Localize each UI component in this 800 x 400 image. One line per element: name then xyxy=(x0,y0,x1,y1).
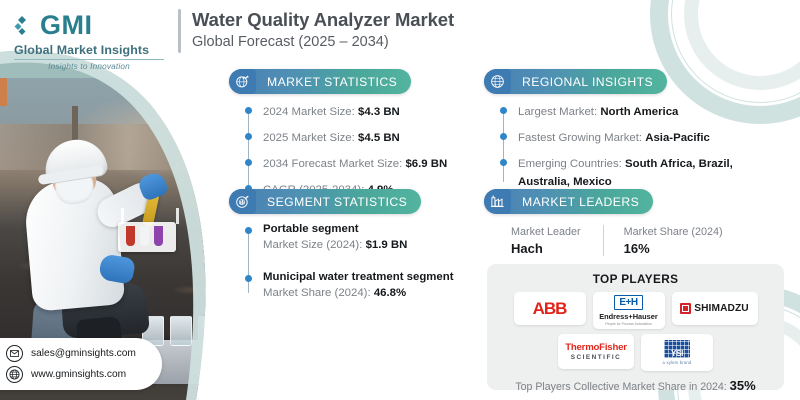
market-leader-column: Market Leader Hach xyxy=(511,225,603,256)
top-players-row-2: ThermoFisher SCIENTIFIC YSI a xylem bran… xyxy=(487,334,784,371)
market-leader-value: Hach xyxy=(511,241,581,256)
decorative-ring-top-right-mid xyxy=(668,0,800,106)
gmi-diamond-icon xyxy=(14,14,36,38)
endress-hauser-logo-text: Endress+Hauser xyxy=(599,312,658,321)
list-item: 2025 Market Size: $4.5 BN xyxy=(245,128,480,146)
player-logo-abb[interactable]: ABB xyxy=(514,292,586,325)
market-leader-caption: Market Leader xyxy=(511,225,581,239)
photo-test-tube xyxy=(154,226,163,246)
player-logo-endress-hauser[interactable]: E+H Endress+Hauser People for Process Au… xyxy=(593,292,665,329)
list-item: Portable segment Market Size (2024): $1.… xyxy=(245,222,485,254)
segment-heading: Municipal water treatment segment xyxy=(263,270,485,285)
gmi-logo-name: Global Market Insights xyxy=(14,43,166,57)
bullet-dot-icon xyxy=(500,133,507,140)
gmi-logo-initials: GMI xyxy=(40,12,93,39)
abb-logo-text: ABB xyxy=(533,299,567,319)
list-item: 2034 Forecast Market Size: $6.9 BN xyxy=(245,154,480,172)
globe-icon xyxy=(6,366,23,383)
list-market-statistics: 2024 Market Size: $4.3 BN 2025 Market Si… xyxy=(245,102,480,199)
bullet-dot-icon xyxy=(500,107,507,114)
list-item-text: 2024 Market Size: $4.3 BN xyxy=(263,106,400,118)
player-logo-shimadzu[interactable]: SHIMADZU xyxy=(672,292,758,325)
factory-icon xyxy=(484,189,511,214)
photo-post xyxy=(72,106,78,140)
list-item: Largest Market: North America xyxy=(500,102,770,120)
player-logo-ysi[interactable]: YSI a xylem brand xyxy=(641,334,713,371)
market-leaders-stats: Market Leader Hach Market Share (2024) 1… xyxy=(511,225,745,256)
photo-sample-jar xyxy=(198,316,220,346)
ysi-mark-icon: YSI xyxy=(664,340,690,358)
top-players-card: TOP PLAYERS ABB E+H Endress+Hauser Peopl… xyxy=(487,264,784,390)
player-logo-thermofisher[interactable]: ThermoFisher SCIENTIFIC xyxy=(558,334,634,369)
top-players-row-1: ABB E+H Endress+Hauser People for Proces… xyxy=(487,292,784,329)
market-share-caption: Market Share (2024) xyxy=(624,225,723,239)
endress-hauser-tagline: People for Process Automation xyxy=(605,322,652,326)
page-title-block: Water Quality Analyzer Market Global For… xyxy=(178,9,454,53)
list-item: 2024 Market Size: $4.3 BN xyxy=(245,102,480,120)
bullet-dot-icon xyxy=(245,227,252,234)
shimadzu-logo-text: SHIMADZU xyxy=(694,303,749,314)
top-players-footnote-label: Top Players Collective Market Share in 2… xyxy=(515,381,726,393)
list-item: Fastest Growing Market: Asia-Pacific xyxy=(500,128,770,146)
contact-email-row[interactable]: sales@gminsights.com xyxy=(6,345,162,362)
segment-detail: Market Size (2024): $1.9 BN xyxy=(263,238,485,253)
list-spine xyxy=(248,109,249,190)
thermofisher-logo-text: ThermoFisher xyxy=(565,342,627,353)
contact-website-row[interactable]: www.gminsights.com xyxy=(6,366,162,383)
gmi-logo[interactable]: GMI Global Market Insights Insights to I… xyxy=(14,12,166,74)
section-label-segment-statistics: SEGMENT STATISTICS xyxy=(256,195,421,209)
contact-panel: sales@gminsights.com www.gminsights.com xyxy=(0,338,162,390)
gmi-logo-divider xyxy=(14,59,164,60)
globe-chart-icon xyxy=(229,69,256,94)
shimadzu-mark-icon xyxy=(680,303,691,314)
list-item: Emerging Countries: South Africa, Brazil… xyxy=(500,154,770,190)
photo-test-tube xyxy=(140,226,149,246)
list-item-text: Fastest Growing Market: Asia-Pacific xyxy=(518,132,710,144)
section-header-segment-statistics: SEGMENT STATISTICS xyxy=(229,189,421,214)
globe-icon xyxy=(484,69,511,94)
list-item-text: 2025 Market Size: $4.5 BN xyxy=(263,132,400,144)
photo-wall xyxy=(0,124,246,170)
segment-heading: Portable segment xyxy=(263,222,485,237)
section-header-market-leaders: MARKET LEADERS xyxy=(484,189,653,214)
page-subtitle: Global Forecast (2025 – 2034) xyxy=(192,34,454,50)
target-chart-icon xyxy=(229,189,256,214)
list-segment-statistics: Portable segment Market Size (2024): $1.… xyxy=(245,222,485,302)
list-item-text: Largest Market: North America xyxy=(518,106,678,118)
photo-test-tube-rack xyxy=(118,222,176,252)
market-share-value: 16% xyxy=(624,241,723,256)
top-players-footnote-value: 35% xyxy=(730,378,756,393)
bullet-dot-icon xyxy=(245,107,252,114)
contact-email: sales@gminsights.com xyxy=(31,348,136,359)
bullet-dot-icon xyxy=(245,133,252,140)
bullet-dot-icon xyxy=(245,159,252,166)
section-label-market-statistics: MARKET STATISTICS xyxy=(256,75,411,89)
section-header-regional-insights: REGIONAL INSIGHTS xyxy=(484,69,667,94)
top-players-footnote: Top Players Collective Market Share in 2… xyxy=(487,378,784,393)
segment-detail: Market Share (2024): 46.8% xyxy=(263,286,485,301)
photo-sample-jar xyxy=(170,316,192,346)
infographic-canvas: GMI Global Market Insights Insights to I… xyxy=(0,0,800,400)
section-label-regional-insights: REGIONAL INSIGHTS xyxy=(511,75,667,89)
ysi-tagline: a xylem brand xyxy=(663,360,692,365)
contact-website: www.gminsights.com xyxy=(31,369,126,380)
section-header-market-statistics: MARKET STATISTICS xyxy=(229,69,411,94)
title-accent-bar xyxy=(178,9,181,53)
top-players-title: TOP PLAYERS xyxy=(487,272,784,286)
photo-post-orange xyxy=(0,78,7,106)
bullet-dot-icon xyxy=(245,275,252,282)
photo-test-tube xyxy=(126,226,135,246)
list-regional-insights: Largest Market: North America Fastest Gr… xyxy=(500,102,770,191)
list-item: Municipal water treatment segment Market… xyxy=(245,270,485,302)
list-item-text: 2034 Forecast Market Size: $6.9 BN xyxy=(263,158,447,170)
envelope-icon xyxy=(6,345,23,362)
market-share-column: Market Share (2024) 16% xyxy=(603,225,745,256)
bullet-dot-icon xyxy=(500,159,507,166)
section-label-market-leaders: MARKET LEADERS xyxy=(511,195,653,209)
page-title: Water Quality Analyzer Market xyxy=(192,9,454,31)
gmi-logo-tagline: Insights to Innovation xyxy=(14,62,164,71)
list-item-text: Emerging Countries: South Africa, Brazil… xyxy=(518,158,733,188)
endress-hauser-mark-icon: E+H xyxy=(614,295,642,310)
decorative-ring-top-right-inner xyxy=(684,0,800,90)
thermofisher-logo-subtext: SCIENTIFIC xyxy=(571,354,622,361)
